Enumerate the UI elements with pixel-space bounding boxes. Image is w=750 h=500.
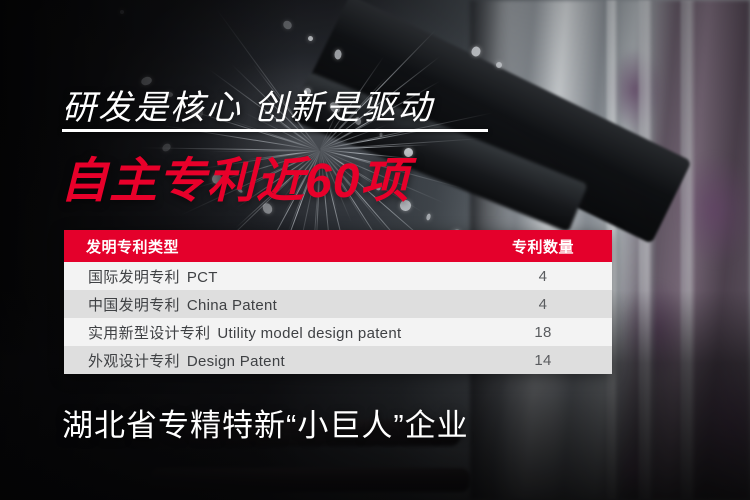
patent-poster: 研发是核心 创新是驱动 自主专利近60项 发明专利类型 专利数量 国际发明专利P… <box>0 0 750 500</box>
cell-patent-type: 中国发明专利China Patent <box>64 290 484 318</box>
page-subtitle: 自主专利近60项 <box>60 141 409 211</box>
table-row: 实用新型设计专利Utility model design patent18 <box>64 318 612 346</box>
cell-patent-count: 4 <box>484 262 612 290</box>
patent-type-en: Design Patent <box>187 353 285 370</box>
patent-type-cn: 国际发明专利 <box>88 269 180 286</box>
cell-patent-count: 4 <box>484 290 612 318</box>
table-row: 国际发明专利PCT4 <box>64 262 612 290</box>
patent-type-en: Utility model design patent <box>217 325 401 342</box>
poster-content: 研发是核心 创新是驱动 自主专利近60项 发明专利类型 专利数量 国际发明专利P… <box>0 0 750 500</box>
cell-patent-count: 14 <box>484 346 612 374</box>
patent-type-cn: 外观设计专利 <box>88 353 180 370</box>
title-divider <box>62 129 488 132</box>
patent-type-en: PCT <box>187 269 218 286</box>
page-title: 研发是核心 创新是驱动 <box>62 80 433 129</box>
footer-caption: 湖北省专精特新“小巨人”企业 <box>62 400 469 445</box>
patent-type-cn: 中国发明专利 <box>88 297 180 314</box>
column-header-patent-count: 专利数量 <box>484 230 612 262</box>
table-row: 中国发明专利China Patent4 <box>64 290 612 318</box>
patent-table-body: 国际发明专利PCT4中国发明专利China Patent4实用新型设计专利Uti… <box>64 262 612 374</box>
table-row: 外观设计专利Design Patent14 <box>64 346 612 374</box>
column-header-patent-type: 发明专利类型 <box>64 230 484 262</box>
patent-table-head: 发明专利类型 专利数量 <box>64 230 612 262</box>
table-header-row: 发明专利类型 专利数量 <box>64 230 612 262</box>
patent-table: 发明专利类型 专利数量 国际发明专利PCT4中国发明专利China Patent… <box>64 230 612 374</box>
cell-patent-count: 18 <box>484 318 612 346</box>
cell-patent-type: 国际发明专利PCT <box>64 262 484 290</box>
cell-patent-type: 实用新型设计专利Utility model design patent <box>64 318 484 346</box>
patent-type-cn: 实用新型设计专利 <box>88 325 210 342</box>
patent-type-en: China Patent <box>187 297 277 314</box>
cell-patent-type: 外观设计专利Design Patent <box>64 346 484 374</box>
